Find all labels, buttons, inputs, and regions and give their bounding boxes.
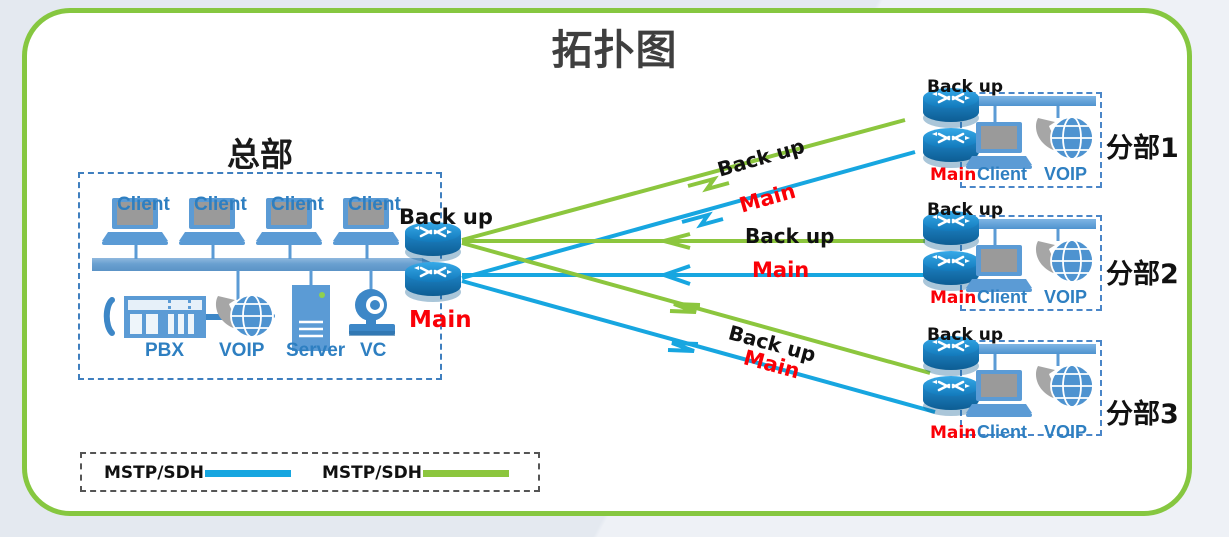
branch2-name: 分部2	[1106, 252, 1179, 291]
branch1-client-label: Client	[977, 164, 1021, 185]
branch3-voip-label: VOIP	[1044, 422, 1078, 443]
link-branch2-backup-label: Back up	[745, 224, 834, 248]
legend-item-mstp-sdh-main: MSTP/SDH	[104, 463, 291, 483]
hq-main-router-icon	[405, 262, 461, 302]
link-branch3-main	[462, 281, 935, 412]
link-branch3-backup	[462, 243, 930, 373]
legend-box: MSTP/SDH MSTP/SDH	[80, 452, 540, 492]
hq-client-3-label: Client	[271, 194, 331, 215]
pbx-icon	[107, 296, 222, 338]
link-branch2-backup	[462, 234, 925, 248]
server-label: Server	[286, 340, 338, 362]
branch3-client-label: Client	[977, 422, 1021, 443]
branch2-voip-label: VOIP	[1044, 287, 1078, 308]
legend-swatch-1	[205, 470, 291, 477]
legend-label-2: MSTP/SDH	[322, 463, 422, 483]
branch3-drop-lines	[995, 354, 1058, 370]
branch3-name: 分部3	[1106, 392, 1179, 431]
video-camera-icon	[349, 289, 395, 336]
hq-bus-bar	[92, 258, 436, 271]
branch3-lan-bar	[968, 344, 1096, 354]
branch2-lan-bar	[968, 219, 1096, 229]
vc-label: VC	[360, 340, 386, 362]
branch3-voip-icon	[1036, 365, 1093, 407]
branch3-main-router-label: Main	[930, 423, 976, 443]
hq-backup-router-label: Back up	[399, 205, 493, 229]
branch1-voip-label: VOIP	[1044, 164, 1078, 185]
hq-client-2-label: Client	[194, 194, 254, 215]
branch2-main-router-label: Main	[930, 288, 976, 308]
legend-item-mstp-sdh-backup: MSTP/SDH	[322, 463, 509, 483]
branch1-drop-lines	[995, 106, 1058, 122]
hq-voip-label: VOIP	[219, 340, 259, 362]
legend-label-1: MSTP/SDH	[104, 463, 204, 483]
legend-swatch-2	[423, 470, 509, 477]
branch1-name: 分部1	[1106, 126, 1179, 165]
topology-diagram-page: 拓扑图 总部	[0, 0, 1229, 537]
branch2-client-label: Client	[977, 287, 1021, 308]
link-branch2-main-label: Main	[752, 258, 809, 282]
branch1-main-router-label: Main	[930, 165, 976, 185]
branch1-lan-bar	[968, 96, 1096, 106]
branch1-backup-router-label: Back up	[927, 77, 1003, 97]
branch2-backup-router-label: Back up	[927, 200, 1003, 220]
branch2-voip-icon	[1036, 240, 1093, 282]
branch2-drop-lines	[995, 229, 1058, 245]
hq-voip-icon	[216, 295, 273, 337]
pbx-label: PBX	[145, 340, 184, 362]
link-branch2-main	[462, 266, 925, 284]
branch1-voip-icon	[1036, 117, 1093, 159]
branch3-backup-router-label: Back up	[927, 325, 1003, 345]
hq-client-1-label: Client	[117, 194, 177, 215]
hq-main-router-label: Main	[409, 307, 472, 333]
link-branch1-main	[462, 152, 915, 278]
